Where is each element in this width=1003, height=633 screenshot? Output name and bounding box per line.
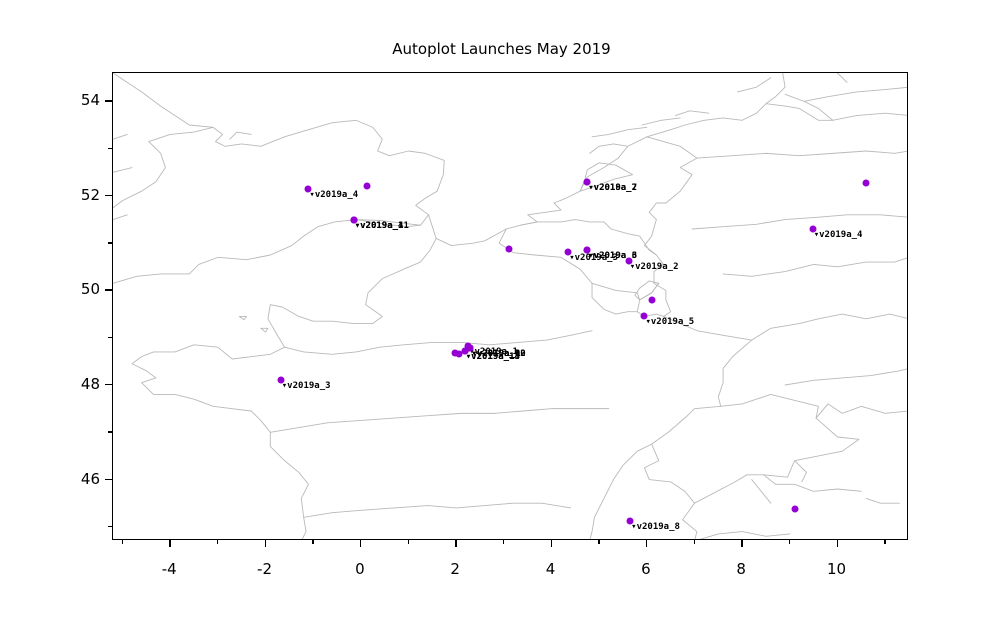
x-axis-tick (169, 540, 170, 547)
scatter-point-label: ▾v2019a_5 (645, 317, 694, 327)
y-axis-tick-label: 46 (38, 470, 100, 488)
x-axis-tick (360, 540, 361, 547)
y-axis-minor-tick (108, 148, 112, 149)
plot-frame: ▾v2019a_4▾v2019a_4▾v2019a_1▾v2019a_11▾v2… (112, 72, 908, 540)
y-axis-minor-tick (108, 526, 112, 527)
x-axis-minor-tick (408, 540, 409, 544)
scatter-point-label: ▾v2019a_4 (309, 190, 358, 200)
y-axis-tick (105, 479, 112, 480)
scatter-point-label: ▾v2019a_13 (466, 352, 520, 362)
x-axis-tick (837, 540, 838, 547)
x-axis-tick-label: -2 (257, 560, 272, 578)
x-axis-tick-label: 0 (355, 560, 365, 578)
y-axis-tick-label: 52 (38, 186, 100, 204)
x-axis-tick (646, 540, 647, 547)
scatter-point-label: ▾v2019a_2 (630, 262, 679, 272)
x-axis-tick (265, 540, 266, 547)
x-axis-minor-tick (312, 540, 313, 544)
y-axis-minor-tick (108, 242, 112, 243)
scatter-point (791, 505, 798, 512)
scatter-point (863, 180, 870, 187)
x-axis-tick-label: -4 (162, 560, 177, 578)
x-axis-tick-label: 2 (450, 560, 460, 578)
y-axis-tick (105, 100, 112, 101)
scatter-point-label: ▾v2019a_11 (355, 221, 409, 231)
scatter-point (363, 182, 370, 189)
scatter-point-label: ▾v2019a_3 (282, 381, 331, 391)
scatter-point-label: ▾v2019a_4 (814, 230, 863, 240)
x-axis-minor-tick (789, 540, 790, 544)
x-axis-tick-label: 8 (736, 560, 746, 578)
y-axis-tick-label: 48 (38, 375, 100, 393)
y-axis-minor-tick (108, 337, 112, 338)
x-axis-minor-tick (694, 540, 695, 544)
y-axis-tick (105, 195, 112, 196)
page-title: Autoplot Launches May 2019 (0, 40, 1003, 58)
y-axis-tick-label: 50 (38, 280, 100, 298)
x-axis-minor-tick (884, 540, 885, 544)
y-axis-tick (105, 289, 112, 290)
x-axis-minor-tick (122, 540, 123, 544)
scatter-point-label: ▾v2018a_2 (588, 183, 637, 193)
x-axis-tick (741, 540, 742, 547)
x-axis-tick-label: 10 (827, 560, 846, 578)
y-axis-minor-tick (108, 431, 112, 432)
x-axis-tick-label: 6 (641, 560, 651, 578)
basemap-geography (113, 73, 908, 540)
y-axis-tick-label: 54 (38, 91, 100, 109)
y-axis-tick (105, 384, 112, 385)
scatter-point-label: ▾v2019a_8 (631, 522, 680, 532)
x-axis-minor-tick (217, 540, 218, 544)
scatter-point (505, 245, 512, 252)
x-axis-minor-tick (503, 540, 504, 544)
x-axis-tick (455, 540, 456, 547)
x-axis-minor-tick (598, 540, 599, 544)
x-axis-tick (551, 540, 552, 547)
scatter-point (455, 351, 462, 358)
x-axis-tick-label: 4 (546, 560, 556, 578)
scatter-point (648, 296, 655, 303)
